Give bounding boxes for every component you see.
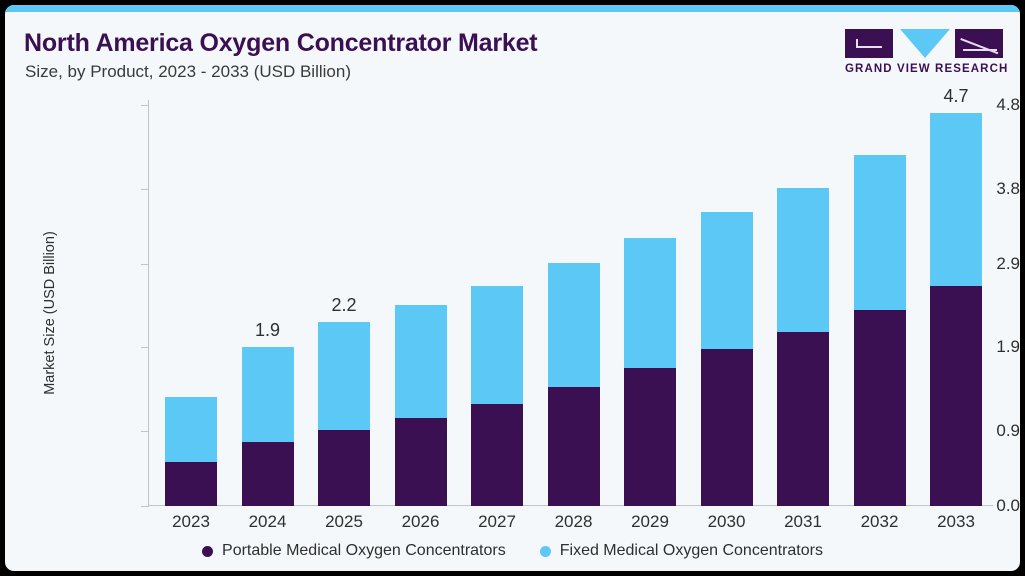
bar-segment-portable[interactable] — [242, 442, 294, 506]
bar-segment-portable[interactable] — [624, 368, 676, 506]
bar-group[interactable]: 4.7 — [930, 113, 982, 506]
x-axis-tick-label: 2025 — [304, 512, 384, 532]
x-axis-tick-label: 2026 — [381, 512, 461, 532]
bar-segment-fixed[interactable] — [701, 212, 753, 349]
y-axis-tick — [141, 506, 149, 507]
bar-group[interactable] — [624, 238, 676, 506]
bar-segment-portable[interactable] — [548, 387, 600, 506]
legend-label: Portable Medical Oxygen Concentrators — [222, 542, 506, 560]
chart-legend: Portable Medical Oxygen ConcentratorsFix… — [5, 542, 1020, 560]
bar-segment-portable[interactable] — [930, 286, 982, 506]
bar-value-label: 1.9 — [228, 320, 308, 341]
x-axis-tick-label: 2029 — [610, 512, 690, 532]
bar-segment-fixed[interactable] — [471, 286, 523, 404]
bar-segment-portable[interactable] — [165, 462, 217, 506]
bar-segment-fixed[interactable] — [165, 397, 217, 462]
bar-segment-fixed[interactable] — [854, 155, 906, 310]
y-axis-title: Market Size (USD Billion) — [42, 183, 58, 443]
bars-container: 1.92.24.7 — [149, 105, 993, 506]
bar-value-label: 2.2 — [304, 295, 384, 316]
x-axis-tick-label: 2024 — [228, 512, 308, 532]
bar-group[interactable] — [701, 212, 753, 506]
legend-label: Fixed Medical Oxygen Concentrators — [560, 542, 823, 560]
chart-card: North America Oxygen Concentrator Market… — [5, 5, 1020, 571]
x-axis-tick-label: 2032 — [840, 512, 920, 532]
bar-segment-portable[interactable] — [777, 332, 829, 506]
y-axis-tick — [141, 431, 149, 432]
bar-segment-fixed[interactable] — [548, 263, 600, 387]
bar-group[interactable] — [854, 155, 906, 506]
bar-group[interactable] — [165, 397, 217, 506]
x-axis-tick-label: 2027 — [457, 512, 537, 532]
bar-value-label: 4.7 — [916, 86, 996, 107]
x-axis-tick-label: 2031 — [763, 512, 843, 532]
legend-item[interactable]: Fixed Medical Oxygen Concentrators — [540, 542, 823, 560]
bar-segment-fixed[interactable] — [930, 113, 982, 286]
bar-group[interactable]: 2.2 — [318, 322, 370, 506]
y-axis-tick — [141, 347, 149, 348]
screenshot-root: North America Oxygen Concentrator Market… — [0, 0, 1025, 576]
x-axis-tick-label: 2028 — [534, 512, 614, 532]
bar-group[interactable] — [471, 286, 523, 506]
bar-segment-fixed[interactable] — [318, 322, 370, 430]
bar-segment-portable[interactable] — [471, 404, 523, 506]
bar-segment-portable[interactable] — [701, 349, 753, 506]
bar-segment-fixed[interactable] — [777, 188, 829, 333]
legend-color-dot-icon — [540, 546, 551, 557]
bar-segment-fixed[interactable] — [395, 305, 447, 419]
bar-segment-fixed[interactable] — [242, 347, 294, 441]
bar-segment-fixed[interactable] — [624, 238, 676, 368]
bar-group[interactable]: 1.9 — [242, 347, 294, 506]
bar-segment-portable[interactable] — [395, 418, 447, 506]
y-axis-tick — [141, 105, 149, 106]
legend-item[interactable]: Portable Medical Oxygen Concentrators — [202, 542, 506, 560]
x-axis-tick-label: 2023 — [151, 512, 231, 532]
y-axis-tick — [141, 189, 149, 190]
y-axis-tick — [141, 264, 149, 265]
x-axis-tick-label: 2033 — [916, 512, 996, 532]
bar-group[interactable] — [395, 305, 447, 506]
bar-group[interactable] — [548, 263, 600, 506]
legend-color-dot-icon — [202, 546, 213, 557]
x-axis-tick-label: 2030 — [687, 512, 767, 532]
bar-group[interactable] — [777, 188, 829, 506]
bar-segment-portable[interactable] — [854, 310, 906, 506]
bar-segment-portable[interactable] — [318, 430, 370, 506]
chart-plot-area: Market Size (USD Billion) 0.00.91.92.93.… — [5, 5, 1020, 571]
